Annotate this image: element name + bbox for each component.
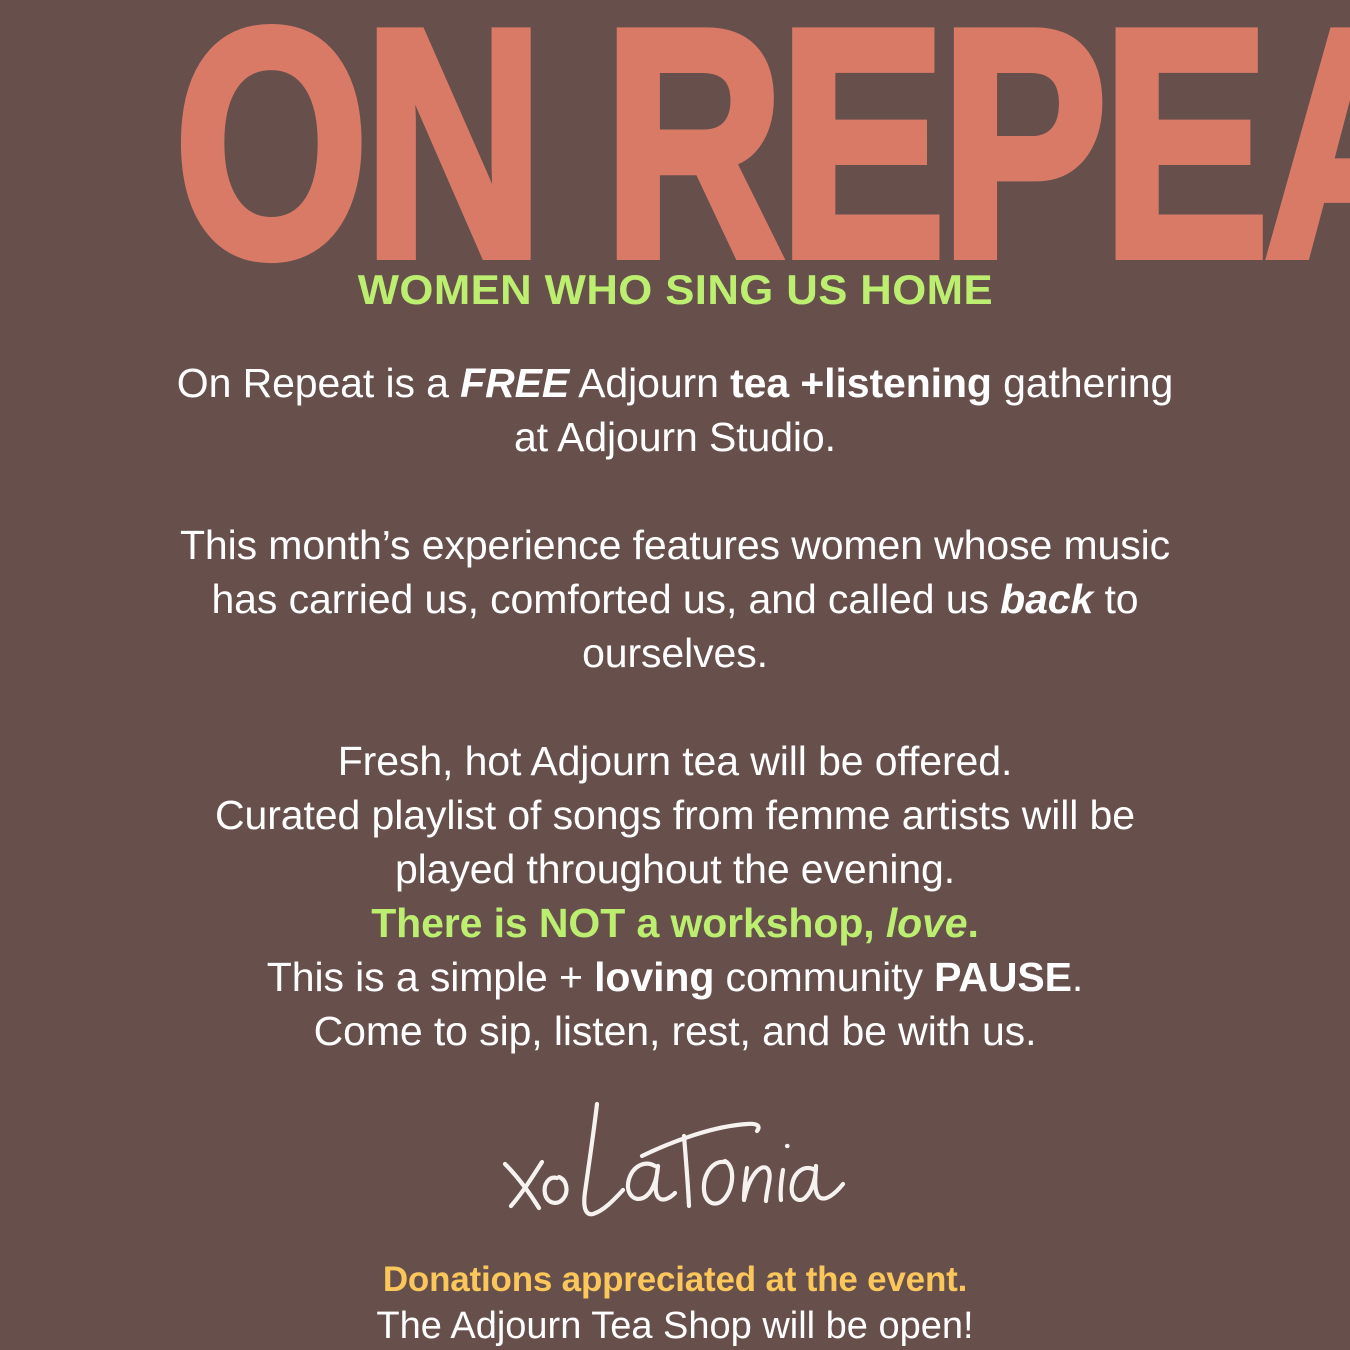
pause-word-emphasis: PAUSE	[934, 954, 1072, 1000]
features-back-emphasis: back	[1000, 576, 1093, 622]
workshop-seg-2: .	[968, 900, 979, 946]
workshop-seg-1: There is NOT a workshop,	[371, 900, 886, 946]
body-copy: On Repeat is a FREE Adjourn tea +listeni…	[160, 356, 1190, 1058]
poster-canvas: ON REPEAT WOMEN WHO SING US HOME On Repe…	[0, 0, 1350, 1350]
intro-seg-1: On Repeat is a	[177, 360, 460, 406]
pause-loving-emphasis: loving	[594, 954, 714, 1000]
line-community-pause: This is a simple + loving community PAUS…	[160, 950, 1190, 1004]
workshop-love-emphasis: love	[886, 900, 968, 946]
line-curated-playlist: Curated playlist of songs from femme art…	[160, 788, 1190, 896]
line-fresh-tea: Fresh, hot Adjourn tea will be offered.	[160, 734, 1190, 788]
pause-seg-1: This is a simple +	[267, 954, 594, 1000]
donations-note: Donations appreciated at the event.	[376, 1258, 973, 1302]
line-come-to-sip: Come to sip, listen, rest, and be with u…	[160, 1004, 1190, 1058]
paragraph-spacer-2	[160, 680, 1190, 734]
paragraph-spacer-1	[160, 464, 1190, 518]
pause-seg-3: .	[1072, 954, 1083, 1000]
paragraph-intro: On Repeat is a FREE Adjourn tea +listeni…	[160, 356, 1190, 464]
title-block: ON REPEAT	[0, 14, 1350, 264]
paragraph-features: This month’s experience features women w…	[160, 518, 1190, 680]
page-subtitle: WOMEN WHO SING US HOME	[357, 268, 992, 312]
pause-seg-2: community	[714, 954, 934, 1000]
tea-shop-note: The Adjourn Tea Shop will be open!	[376, 1302, 973, 1350]
footer-block: Donations appreciated at the event. The …	[376, 1258, 973, 1350]
signature-xo-latonia: handwritten signature reading xo LaTonia	[495, 1100, 855, 1230]
line-not-a-workshop: There is NOT a workshop, love.	[160, 896, 1190, 950]
intro-tea-listening-emphasis: tea +listening	[730, 360, 992, 406]
signature-block: handwritten signature reading xo LaTonia	[0, 1096, 1350, 1234]
intro-seg-2: Adjourn	[569, 360, 730, 406]
intro-free-emphasis: FREE	[460, 360, 569, 406]
page-title: ON REPEAT	[174, 14, 1350, 274]
